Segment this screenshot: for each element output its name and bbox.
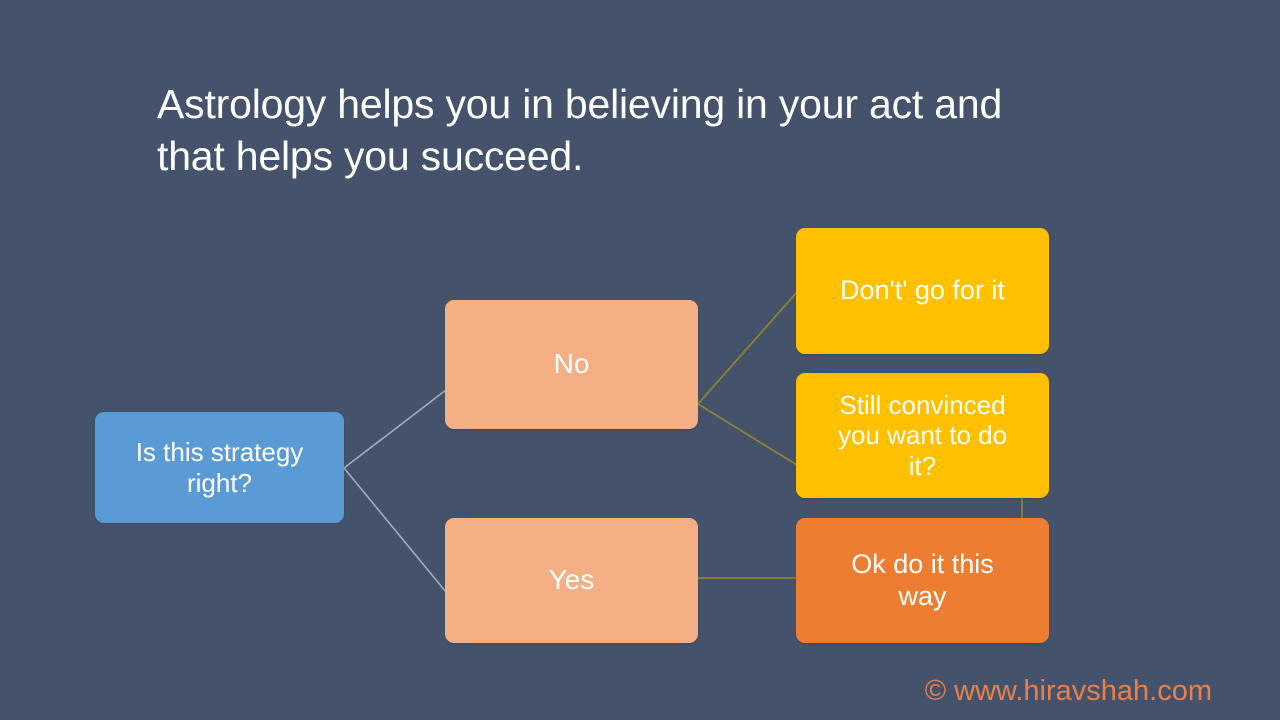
- slide-canvas: Astrology helps you in believing in your…: [0, 0, 1280, 720]
- copyright-footer: © www.hiravshah.com: [925, 675, 1212, 708]
- flow-node-label: Is this strategy right?: [136, 437, 304, 497]
- flow-node-label: Ok do it this way: [851, 549, 994, 612]
- flow-node-dont-go-for-it[interactable]: Don't' go for it: [796, 228, 1049, 354]
- flow-node-label: Don't' go for it: [840, 275, 1005, 306]
- flow-node-ok-do-it-this-way[interactable]: Ok do it this way: [796, 518, 1049, 643]
- connector-no-to-still: [698, 404, 797, 465]
- flow-node-label: No: [554, 348, 590, 380]
- flow-node-label: Yes: [549, 564, 595, 596]
- flow-node-label: Still convinced you want to do it?: [838, 390, 1007, 480]
- connector-root-to-no: [344, 390, 446, 468]
- connector-root-to-yes: [344, 468, 446, 592]
- flow-node-yes[interactable]: Yes: [445, 518, 698, 643]
- flow-node-still-convinced[interactable]: Still convinced you want to do it?: [796, 373, 1049, 498]
- flow-node-is-this-strategy-right[interactable]: Is this strategy right?: [95, 412, 344, 523]
- connector-no-to-dont: [698, 292, 797, 404]
- page-title: Astrology helps you in believing in your…: [157, 78, 1137, 182]
- flow-node-no[interactable]: No: [445, 300, 698, 429]
